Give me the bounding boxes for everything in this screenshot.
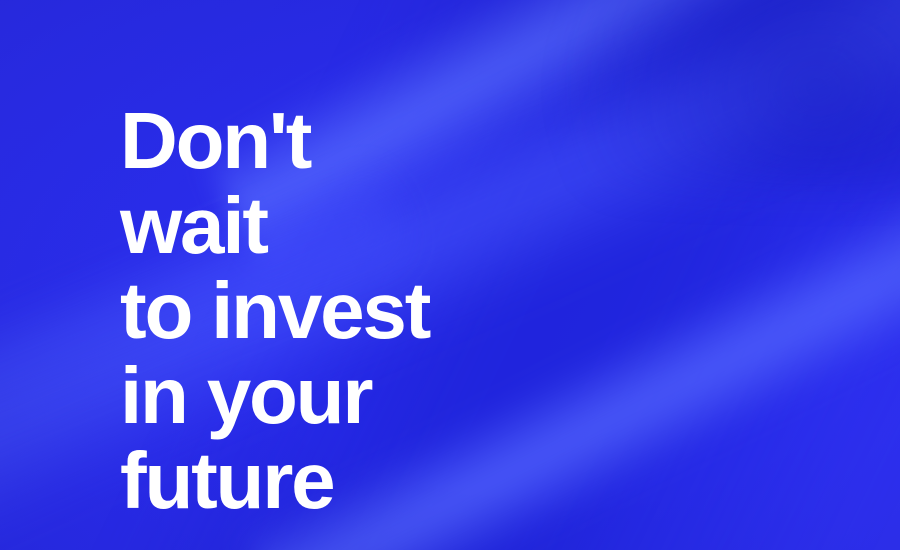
headline-line-3: to invest	[120, 268, 429, 353]
headline-line-5: future	[120, 438, 429, 523]
headline-line-1: Don't	[120, 98, 429, 183]
headline-line-4: in your	[120, 353, 429, 438]
promo-banner: Don't wait to invest in your future	[0, 0, 900, 550]
headline-line-2: wait	[120, 183, 429, 268]
headline: Don't wait to invest in your future	[120, 98, 429, 523]
